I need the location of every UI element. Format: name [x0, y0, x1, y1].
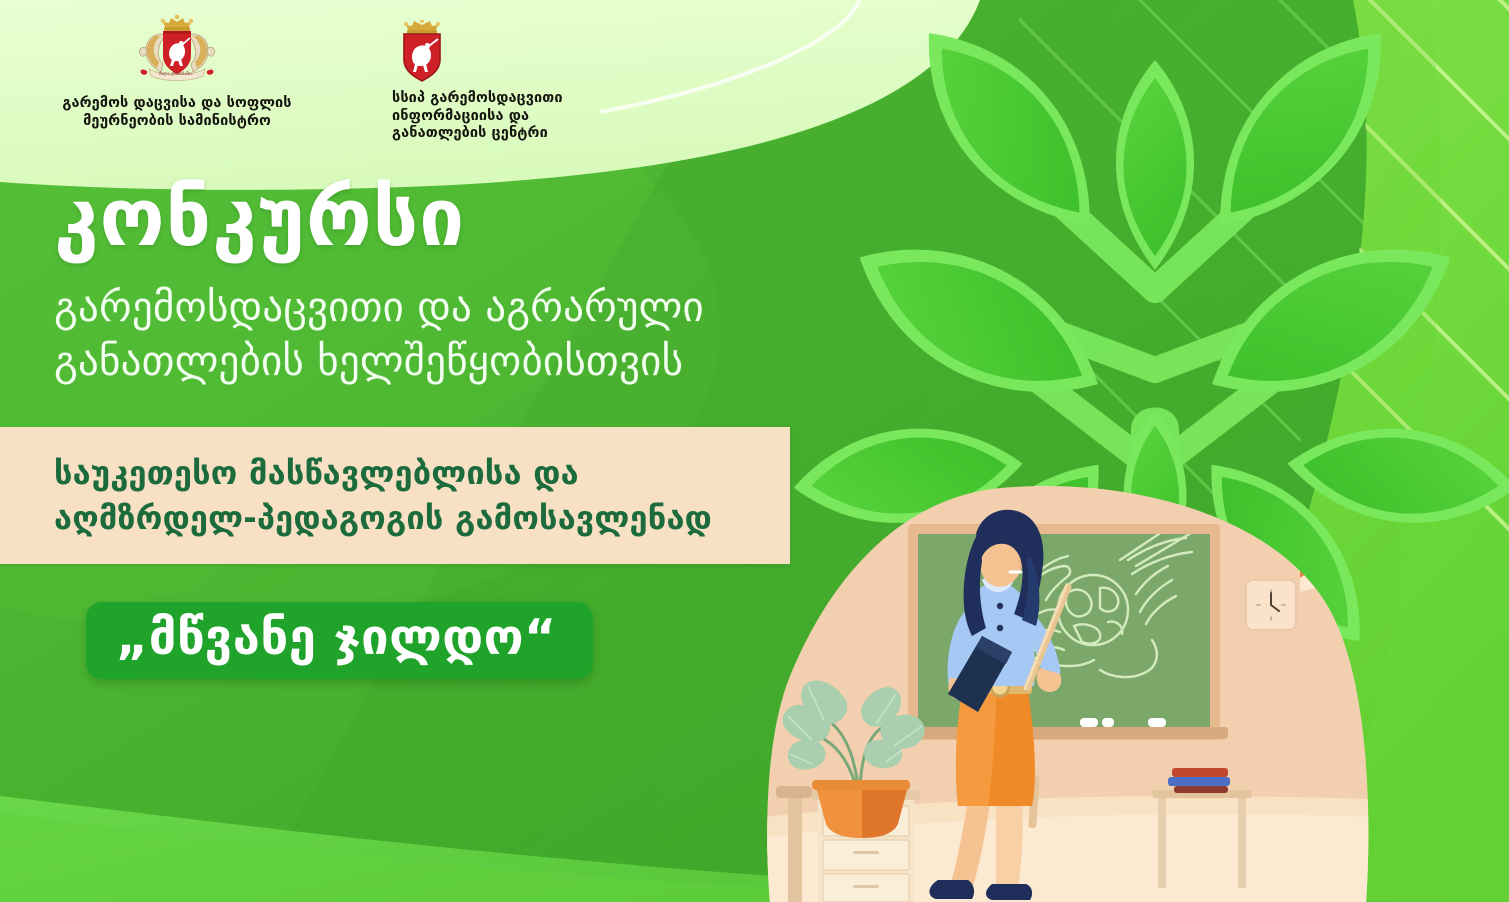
ministry-caption-line2: მეურნეობის სამინისტრო — [62, 113, 291, 131]
award-name-badge: „მწვანე ჯილდო“ — [86, 602, 593, 679]
center-logo-block: სსიპ გარემოსდაცვითი ინფორმაციისა და განა… — [390, 20, 690, 143]
banner-line2: აღმზრდელ-პედაგოგის გამოსავლენად — [54, 496, 712, 541]
center-caption-line1: სსიპ გარემოსდაცვითი — [392, 90, 563, 108]
highlight-banner-text: საუკეთესო მასწავლებლისა და აღმზრდელ-პედა… — [54, 451, 712, 541]
environmental-center-emblem-icon — [394, 20, 450, 84]
subtitle-line2: განათლების ხელშეწყობისთვის — [54, 334, 814, 388]
ministry-logo-block: ძალა ერთობაშია გარემოს დაცვისა და სოფლის… — [52, 14, 302, 130]
center-caption-line3: განათლების ცენტრი — [392, 125, 563, 143]
ministry-logo-caption: გარემოს დაცვისა და სოფლის მეურნეობის სამ… — [62, 95, 291, 130]
subtitle-line1: გარემოსდაცვითი და აგრარული — [54, 280, 814, 334]
banner-line1: საუკეთესო მასწავლებლისა და — [54, 451, 712, 496]
center-logo-caption: სსიპ გარემოსდაცვითი ინფორმაციისა და განა… — [392, 90, 563, 143]
ministry-caption-line1: გარემოს დაცვისა და სოფლის — [62, 95, 291, 113]
main-copy: კონკურსი გარემოსდაცვითი და აგრარული განა… — [0, 178, 860, 388]
classroom-scene — [740, 460, 1400, 902]
stack-of-books — [1168, 768, 1230, 793]
page-title: კონკურსი — [54, 178, 860, 258]
page-subtitle: გარემოსდაცვითი და აგრარული განათლების ხე… — [54, 280, 814, 388]
poster-canvas: ძალა ერთობაშია გარემოს დაცვისა და სოფლის… — [0, 0, 1509, 902]
svg-text:ძალა ერთობაშია: ძალა ერთობაშია — [159, 71, 193, 76]
georgia-coat-of-arms-icon: ძალა ერთობაშია — [133, 14, 221, 90]
award-name-text: „მწვანე ჯილდო“ — [116, 611, 557, 665]
header-logos: ძალა ერთობაშია გარემოს დაცვისა და სოფლის… — [0, 0, 1509, 160]
highlight-banner: საუკეთესო მასწავლებლისა და აღმზრდელ-პედა… — [0, 427, 790, 564]
center-caption-line2: ინფორმაციისა და — [392, 108, 563, 126]
